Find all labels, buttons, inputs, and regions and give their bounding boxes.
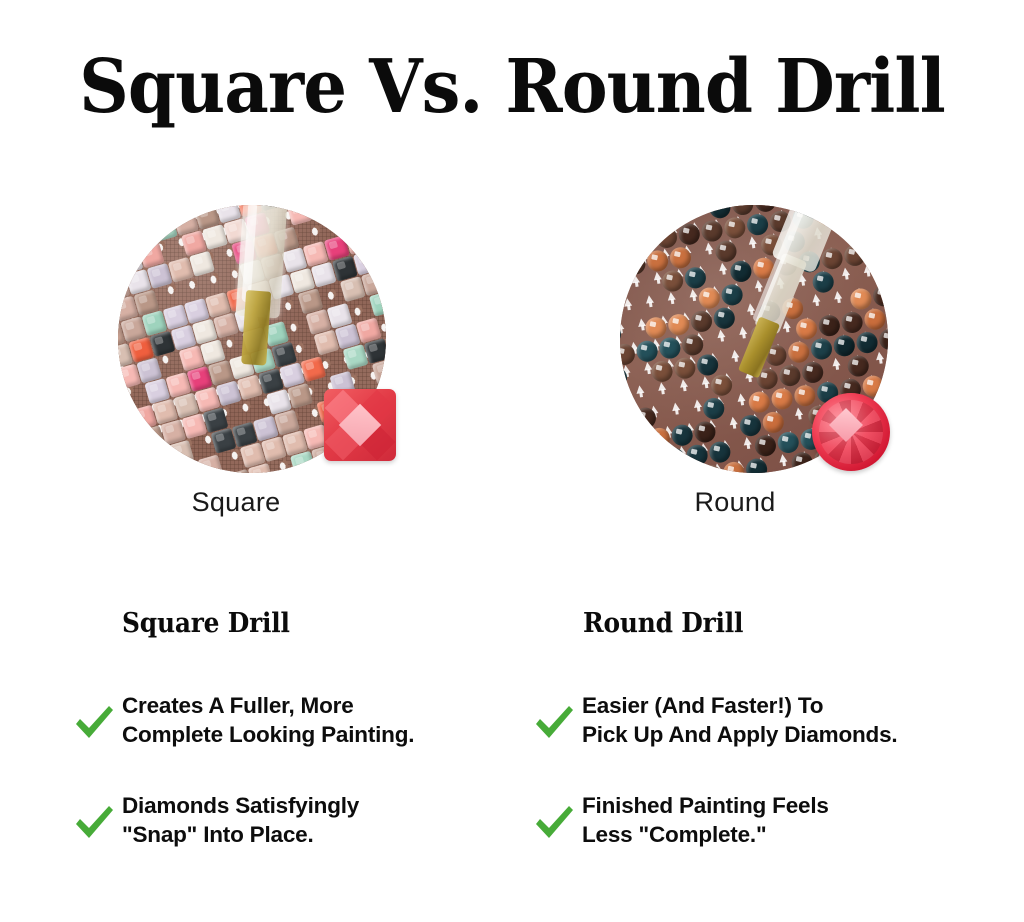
- list-item: Creates A Fuller, More Complete Looking …: [72, 690, 502, 752]
- list-item-line1: Diamonds Satisfyingly: [122, 793, 359, 818]
- check-icon: [532, 801, 576, 845]
- caption-round: Round: [585, 487, 885, 518]
- photo-row: [0, 205, 1024, 475]
- list-item-line2: Complete Looking Painting.: [122, 721, 414, 750]
- heading-round-drill: Round Drill: [583, 608, 743, 639]
- round-drill-benefits: Easier (And Faster!) To Pick Up And Appl…: [532, 690, 982, 890]
- list-item-text: Diamonds Satisfyingly "Snap" Into Place.: [122, 792, 359, 850]
- list-item-line1: Creates A Fuller, More: [122, 693, 354, 718]
- square-drill-figure: [110, 205, 410, 505]
- caption-square: Square: [86, 487, 386, 518]
- list-item: Diamonds Satisfyingly "Snap" Into Place.: [72, 790, 502, 852]
- infographic-page: Square Vs. Round Drill: [0, 0, 1024, 922]
- list-item-line1: Easier (And Faster!) To: [582, 693, 823, 718]
- list-item-line1: Finished Painting Feels: [582, 793, 829, 818]
- check-icon: [72, 701, 116, 745]
- page-title: Square Vs. Round Drill: [36, 44, 988, 130]
- list-item-line2: Pick Up And Apply Diamonds.: [582, 721, 897, 750]
- check-icon: [72, 801, 116, 845]
- heading-square-drill: Square Drill: [122, 608, 290, 639]
- round-drill-figure: [612, 205, 912, 505]
- list-item-line2: "Snap" Into Place.: [122, 821, 359, 850]
- check-icon: [532, 701, 576, 745]
- list-item-text: Easier (And Faster!) To Pick Up And Appl…: [582, 692, 897, 750]
- list-item: Finished Painting Feels Less "Complete.": [532, 790, 982, 852]
- loose-round-gem-icon: [812, 393, 890, 471]
- loose-square-gem-icon: [324, 389, 396, 461]
- list-item-line2: Less "Complete.": [582, 821, 829, 850]
- list-item: Easier (And Faster!) To Pick Up And Appl…: [532, 690, 982, 752]
- list-item-text: Creates A Fuller, More Complete Looking …: [122, 692, 414, 750]
- list-item-text: Finished Painting Feels Less "Complete.": [582, 792, 829, 850]
- square-drill-benefits: Creates A Fuller, More Complete Looking …: [72, 690, 502, 890]
